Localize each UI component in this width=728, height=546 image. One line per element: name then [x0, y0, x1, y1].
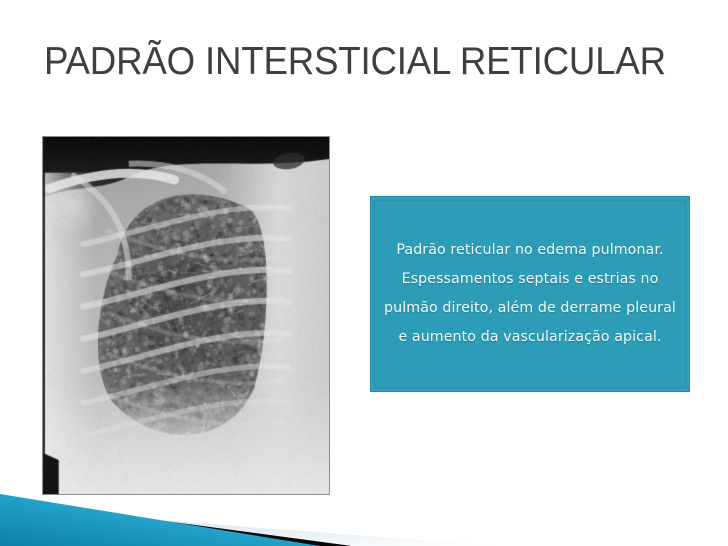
teal-wedge [0, 494, 320, 546]
bottom-decoration [0, 486, 728, 546]
decorative-diagonal-bands [0, 486, 728, 546]
pale-blue-wedge [0, 508, 500, 546]
caption-box: Padrão reticular no edema pulmonar. Espe… [370, 196, 690, 392]
chest-xray-canvas [43, 137, 329, 494]
chest-xray-image [43, 137, 329, 494]
caption-text: Padrão reticular no edema pulmonar. Espe… [384, 236, 676, 352]
slide-canvas: PADRÃO INTERSTICIAL RETICULAR Padrão ret… [0, 0, 728, 546]
page-title: PADRÃO INTERSTICIAL RETICULAR [44, 38, 646, 86]
black-diagonal-stripe [0, 499, 352, 546]
